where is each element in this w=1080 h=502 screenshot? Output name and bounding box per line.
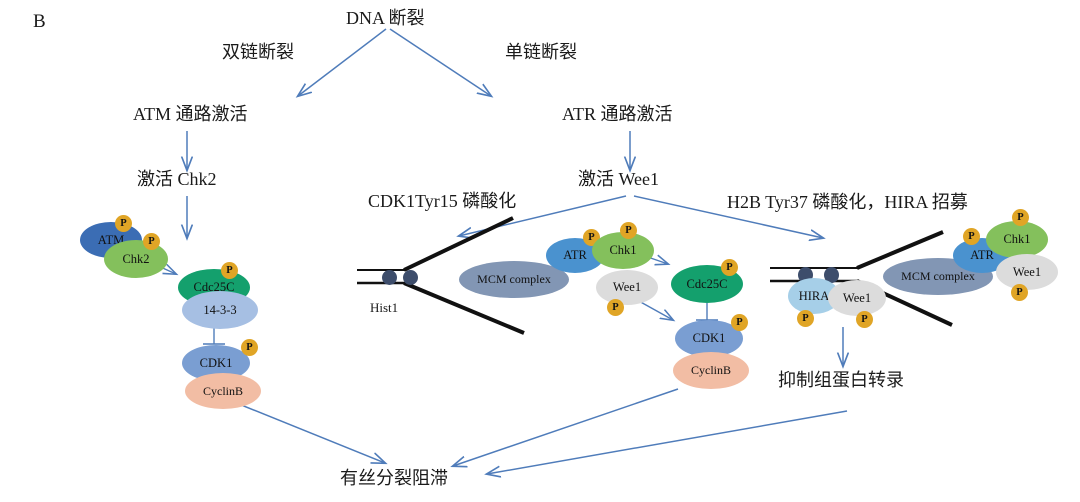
node-wee1-right: Wee1 [996,254,1058,290]
phosphate-chk1-right: P [1012,209,1029,226]
arrow-right-to-arrest [487,411,847,474]
node-cyclinb-left: CyclinB [185,373,261,409]
label-mitotic-arrest: 有丝分裂阻滞 [340,469,448,487]
phosphate-cdk1-mid: P [731,314,748,331]
phosphate-wee1-mid: P [607,299,624,316]
arrow-wee1-to-cdk1 [637,300,673,320]
nucleosome-left-1 [382,270,397,285]
phosphate-cdc25c-mid: P [721,259,738,276]
phosphate-atr-right: P [963,228,980,245]
phosphate-wee1-fork-right: P [856,311,873,328]
phosphate-atm: P [115,215,132,232]
label-activate-wee1: 激活 Wee1 [578,170,659,188]
label-dna-damage: DNA 断裂 [346,9,425,27]
node-wee1-fork-right: Wee1 [828,280,886,316]
label-hist1: Hist1 [370,300,398,316]
arrow-mid-to-arrest [453,389,678,466]
node-cyclinb-mid: CyclinB [673,352,749,389]
label-atr-pathway: ATR 通路激活 [562,105,673,123]
phosphate-cdc25c-left: P [221,262,238,279]
phosphate-chk2: P [143,233,160,250]
arrow-root-to-atm [298,29,386,96]
phosphate-chk1-mid: P [620,222,637,239]
label-histone-transcription-suppression: 抑制组蛋白转录 [778,371,904,389]
diagram-canvas: B DNA 断裂 双链断裂 单链断裂 ATM 通路激活 ATR 通路激活 激活 … [0,0,1080,502]
label-atm-pathway: ATM 通路激活 [133,105,248,123]
label-cdk1-tyr15-phos: CDK1Tyr15 磷酸化 [368,192,516,210]
label-double-strand-break: 双链断裂 [222,43,294,61]
label-h2b-tyr37-phos-hira: H2B Tyr37 磷酸化，HIRA 招募 [727,193,968,211]
nucleosome-left-2 [403,270,418,285]
phosphate-hira: P [797,310,814,327]
panel-letter: B [33,12,46,31]
label-single-strand-break: 单链断裂 [505,43,577,61]
arrow-root-to-atr [390,29,491,96]
label-activate-chk2: 激活 Chk2 [137,170,217,188]
phosphate-cdk1-left: P [241,339,258,356]
node-14-3-3: 14-3-3 [182,291,258,329]
node-wee1-mid: Wee1 [596,270,658,305]
node-chk1-right: Chk1 [986,221,1048,258]
phosphate-wee1-right: P [1011,284,1028,301]
arrow-left-to-arrest [224,398,385,463]
